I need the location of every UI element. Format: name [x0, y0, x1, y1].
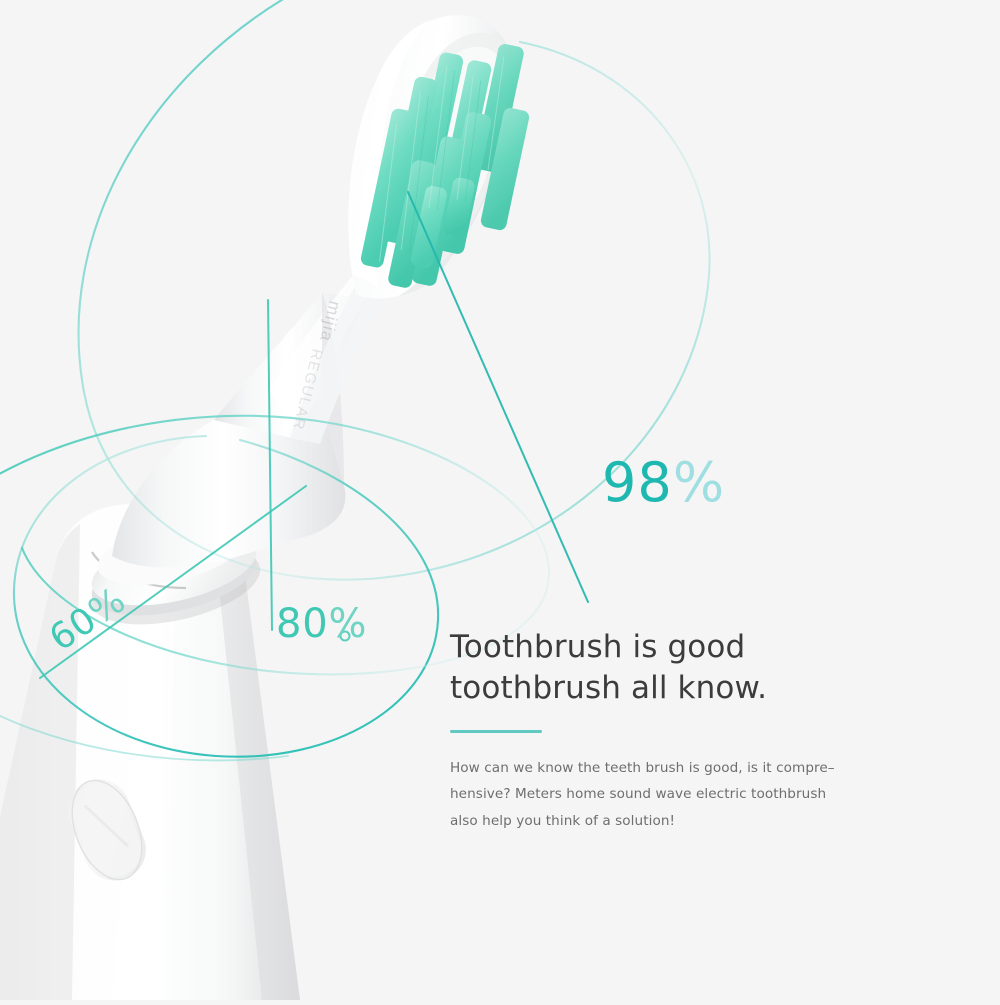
copy-block: Toothbrush is good toothbrush all know. …	[450, 627, 920, 834]
brush-neck	[112, 272, 392, 568]
product-svg: mijia REGULAR	[0, 0, 1000, 1000]
marketing-hero-image: mijia REGULAR	[0, 0, 1000, 1000]
title-divider	[450, 730, 542, 733]
body-line-3: also help you think of a solution!	[450, 808, 902, 835]
product-photo: mijia REGULAR	[0, 0, 1000, 1000]
body-line-2: hensive? Meters home sound wave electric…	[450, 781, 902, 808]
headline-line-2: toothbrush all know.	[450, 668, 920, 709]
body-line-1: How can we know the teeth brush is good,…	[450, 755, 902, 782]
page-title: Toothbrush is good toothbrush all know.	[450, 627, 920, 709]
headline-line-1: Toothbrush is good	[450, 629, 745, 665]
stat-label-80: 80%	[276, 604, 367, 644]
body-paragraph: How can we know the teeth brush is good,…	[450, 755, 902, 835]
stat-label-98: 98%	[602, 456, 725, 510]
